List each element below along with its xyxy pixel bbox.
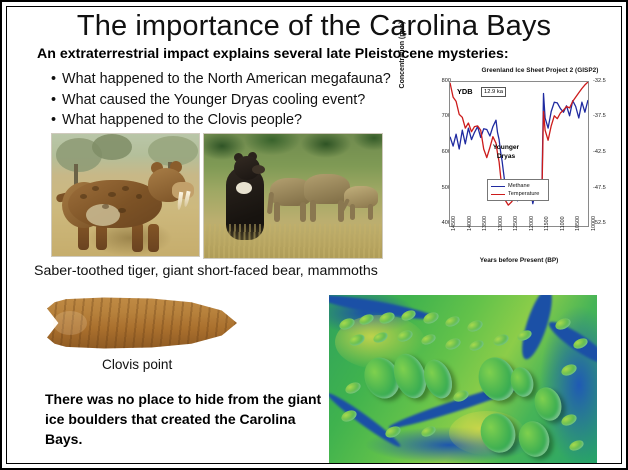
x-tick-label: 14500 xyxy=(451,216,457,231)
bullet-text: What happened to the North American mega… xyxy=(62,71,391,87)
y-tick-label: 600 xyxy=(427,149,451,155)
x-tick-label: 11500 xyxy=(544,216,550,231)
legend-item-methane: Methane xyxy=(491,182,545,190)
ydb-annotation-label: YDB xyxy=(457,87,473,96)
short-faced-bear-mammoths-image xyxy=(203,133,383,259)
bullet-dot-icon: • xyxy=(51,69,62,90)
list-item: •What happened to the North American meg… xyxy=(51,69,421,90)
x-tick-label: 10000 xyxy=(591,216,597,231)
list-item: •What happened to the Clovis people? xyxy=(51,110,421,131)
y2-tick-label: -37.5 xyxy=(593,113,617,119)
bullet-list: •What happened to the North American meg… xyxy=(51,69,421,131)
y-tick-label: 400 xyxy=(427,220,451,226)
y-tick-label: 700 xyxy=(427,113,451,119)
bullet-dot-icon: • xyxy=(51,90,62,111)
clovis-point-caption: Clovis point xyxy=(102,357,172,372)
clovis-point-image xyxy=(47,297,237,349)
closing-statement: There was no place to hide from the gian… xyxy=(45,389,325,449)
x-tick-label: 13500 xyxy=(482,216,488,231)
legend-swatch-temperature xyxy=(491,194,505,195)
x-tick-label: 12000 xyxy=(529,216,535,231)
chart-legend: Methane Temperature xyxy=(487,179,549,201)
legend-label: Temperature xyxy=(508,190,539,198)
legend-swatch-methane xyxy=(491,186,505,187)
y2-tick-label: -42.5 xyxy=(593,149,617,155)
saber-toothed-tiger-image xyxy=(51,133,200,257)
carolina-bays-lidar-map xyxy=(329,295,597,463)
y-tick-label: 800 xyxy=(427,78,451,84)
bullet-text: What happened to the Clovis people? xyxy=(62,112,302,128)
y2-tick-label: -32.5 xyxy=(593,78,617,84)
bullet-text: What caused the Younger Dryas cooling ev… xyxy=(62,92,365,108)
megafauna-caption: Saber-toothed tiger, giant short-faced b… xyxy=(34,263,378,279)
x-axis-label: Years before Present (BP) xyxy=(449,257,589,264)
chart-title: Greenland Ice Sheet Project 2 (GISP2) xyxy=(447,67,622,74)
x-tick-label: 14000 xyxy=(467,216,473,231)
slide-content: The importance of the Carolina Bays An e… xyxy=(6,6,622,464)
y2-tick-label: -47.5 xyxy=(593,185,617,191)
ydb-age-box: 12.9 ka xyxy=(481,87,506,97)
legend-item-temperature: Temperature xyxy=(491,190,545,198)
x-tick-label: 10500 xyxy=(575,216,581,231)
younger-dryas-annotation: Younger Dryas xyxy=(483,143,529,161)
legend-label: Methane xyxy=(508,182,530,190)
slide-subtitle: An extraterrestrial impact explains seve… xyxy=(37,46,597,63)
slide-frame: The importance of the Carolina Bays An e… xyxy=(0,0,628,470)
page-title: The importance of the Carolina Bays xyxy=(7,9,621,43)
x-tick-label: 13000 xyxy=(498,216,504,231)
y-axis-label: Concentration (ppb) xyxy=(399,6,406,105)
x-tick-label: 12500 xyxy=(513,216,519,231)
list-item: •What caused the Younger Dryas cooling e… xyxy=(51,90,421,111)
bullet-dot-icon: • xyxy=(51,110,62,131)
y-tick-label: 500 xyxy=(427,185,451,191)
x-tick-label: 11000 xyxy=(560,216,566,231)
gisp2-chart: Greenland Ice Sheet Project 2 (GISP2) 80… xyxy=(411,67,622,267)
